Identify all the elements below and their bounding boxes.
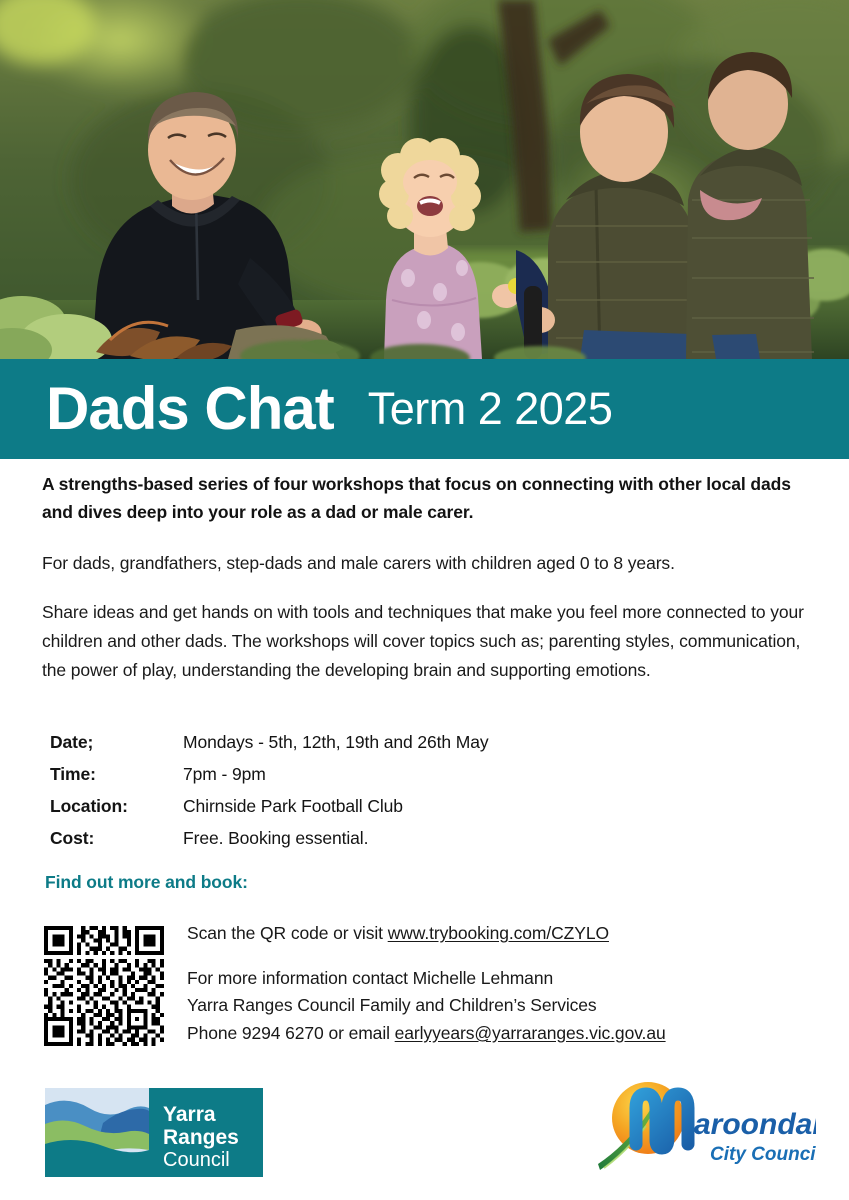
hero-photo	[0, 0, 849, 359]
contact-block: Scan the QR code or visit www.trybooking…	[187, 920, 827, 1047]
table-row: Time: 7pm - 9pm	[50, 762, 690, 794]
find-out-more-heading: Find out more and book:	[45, 872, 248, 893]
email-link[interactable]: earlyyears@yarraranges.vic.gov.au	[395, 1023, 666, 1043]
yarra-logo-line1: Yarra	[163, 1103, 216, 1126]
detail-label-location: Location:	[50, 794, 183, 826]
audience-paragraph: For dads, grandfathers, step-dads and ma…	[42, 549, 822, 578]
hero-photo-illustration	[0, 0, 849, 359]
body-copy: A strengths-based series of four worksho…	[42, 470, 822, 705]
detail-value-location: Chirnside Park Football Club	[183, 794, 690, 826]
detail-value-cost: Free. Booking essential.	[183, 826, 690, 858]
description-paragraph: Share ideas and get hands on with tools …	[42, 598, 822, 685]
maroondah-logo-name: aroondah	[694, 1108, 816, 1141]
term-label: Term 2 2025	[368, 386, 613, 433]
maroondah-logo-tagline: City Council	[710, 1144, 816, 1165]
table-row: Location: Chirnside Park Football Club	[50, 794, 690, 826]
detail-label-time: Time:	[50, 762, 183, 794]
lead-paragraph: A strengths-based series of four worksho…	[42, 470, 822, 527]
phone-prefix: Phone 9294 6270 or email	[187, 1023, 395, 1043]
event-details-table: Date; Mondays - 5th, 12th, 19th and 26th…	[50, 730, 690, 857]
detail-label-cost: Cost:	[50, 826, 183, 858]
booking-url-link[interactable]: www.trybooking.com/CZYLO	[388, 923, 609, 943]
page-title: Dads Chat	[46, 379, 334, 439]
maroondah-logo-art: aroondah City Council	[598, 1078, 816, 1178]
detail-value-time: 7pm - 9pm	[183, 762, 690, 794]
scan-line: Scan the QR code or visit www.trybooking…	[187, 920, 827, 947]
yarra-logo-line3: Council	[163, 1149, 230, 1171]
qr-code-matrix	[44, 926, 164, 1046]
spacer	[187, 948, 827, 965]
contact-org-line: Yarra Ranges Council Family and Children…	[187, 992, 827, 1019]
yarra-ranges-logo-art: Yarra Ranges Council	[45, 1088, 263, 1177]
title-banner: Dads Chat Term 2 2025	[0, 359, 849, 459]
table-row: Date; Mondays - 5th, 12th, 19th and 26th…	[50, 730, 690, 762]
detail-label-date: Date;	[50, 730, 183, 762]
table-row: Cost: Free. Booking essential.	[50, 826, 690, 858]
yarra-logo-line2: Ranges	[163, 1126, 239, 1149]
scan-prefix: Scan the QR code or visit	[187, 923, 388, 943]
flyer-page: Dads Chat Term 2 2025 A strengths-based …	[0, 0, 849, 1200]
yarra-ranges-council-logo: Yarra Ranges Council	[45, 1088, 263, 1177]
detail-value-date: Mondays - 5th, 12th, 19th and 26th May	[183, 730, 690, 762]
maroondah-city-council-logo: aroondah City Council	[598, 1078, 816, 1178]
qr-code-icon[interactable]	[44, 926, 164, 1046]
contact-phone-email-line: Phone 9294 6270 or email earlyyears@yarr…	[187, 1020, 827, 1047]
contact-name-line: For more information contact Michelle Le…	[187, 965, 827, 992]
